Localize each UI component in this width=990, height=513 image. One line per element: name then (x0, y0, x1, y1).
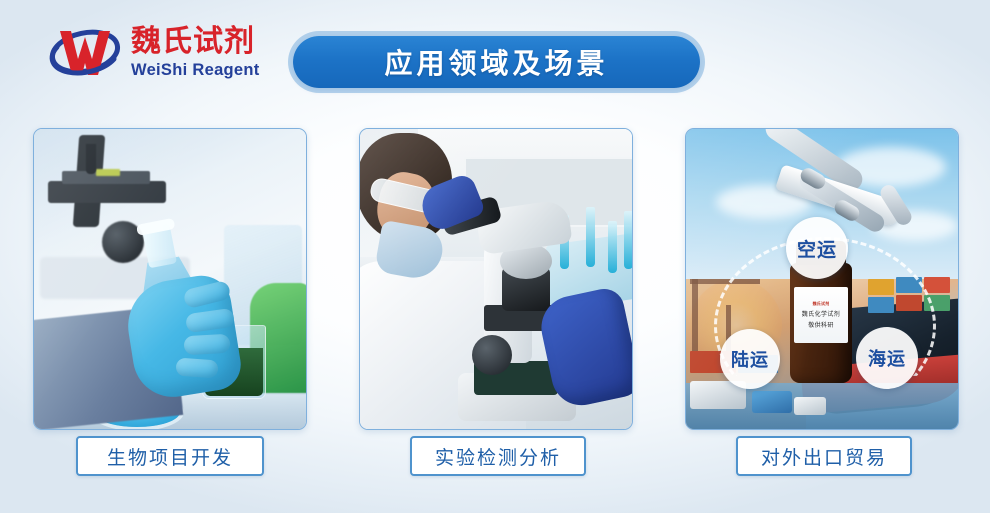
weishi-w-logo-icon (48, 23, 122, 83)
bottle-label-brand: 魏氏试剂 (813, 301, 830, 307)
brand-logo: 魏氏试剂 WeiShi Reagent (48, 23, 260, 83)
brand-name-cn: 魏氏试剂 (131, 27, 260, 57)
bottle-label-line1: 魏氏化学试剂 (802, 309, 840, 318)
badge-land-freight: 陆运 (720, 329, 780, 389)
caption-label: 生物项目开发 (107, 443, 233, 470)
photo-logistics: 魏氏试剂 魏氏化学试剂 敬供科研 空运 陆运 海运 (686, 129, 958, 429)
card-row: 魏氏试剂 魏氏化学试剂 敬供科研 空运 陆运 海运 生物项目开发 (0, 128, 990, 468)
card-experiment-testing-analysis[interactable] (359, 128, 633, 430)
photo-lab-flask (34, 129, 306, 429)
badge-air-freight: 空运 (786, 217, 848, 279)
bottle-label-line2: 敬供科研 (808, 320, 834, 329)
page-title: 应用领域及场景 (384, 42, 608, 82)
caption-label: 实验检测分析 (435, 443, 561, 470)
bottle-label: 魏氏试剂 魏氏化学试剂 敬供科研 (794, 287, 848, 343)
page-title-pill: 应用领域及场景 (293, 36, 700, 88)
badge-air-label: 空运 (797, 235, 837, 262)
slide-root: 魏氏试剂 WeiShi Reagent 应用领域及场景 (0, 0, 990, 513)
card-bio-project-development[interactable] (33, 128, 307, 430)
caption-bio-project-development: 生物项目开发 (76, 436, 264, 476)
badge-land-label: 陆运 (731, 346, 769, 372)
caption-experiment-testing-analysis: 实验检测分析 (410, 436, 586, 476)
caption-foreign-export-trade: 对外出口贸易 (736, 436, 912, 476)
photo-scientist-microscope (360, 129, 632, 429)
card-foreign-export-trade[interactable]: 魏氏试剂 魏氏化学试剂 敬供科研 空运 陆运 海运 (685, 128, 959, 430)
caption-label: 对外出口贸易 (761, 443, 887, 470)
brand-text: 魏氏试剂 WeiShi Reagent (131, 27, 260, 79)
brand-name-en: WeiShi Reagent (131, 62, 260, 79)
badge-sea-label: 海运 (868, 345, 906, 371)
badge-sea-freight: 海运 (856, 327, 918, 389)
